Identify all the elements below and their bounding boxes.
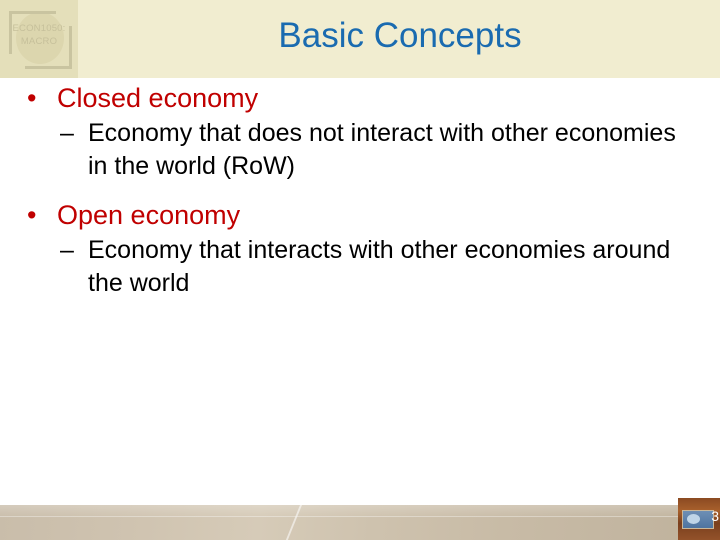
footer-seam-line	[286, 505, 302, 540]
slide-body: • Closed economy – Economy that does not…	[0, 80, 720, 500]
logo-text-line2: MACRO	[0, 35, 78, 48]
dash-icon: –	[60, 117, 74, 150]
sub-bullet-text: Economy that does not interact with othe…	[88, 117, 688, 183]
bullet-item-closed-economy: • Closed economy	[0, 80, 720, 117]
slide-number: 3	[677, 508, 720, 524]
bullet-dot-icon: •	[27, 197, 36, 234]
sub-bullet-item-closed-economy-definition: – Economy that does not interact with ot…	[0, 117, 720, 183]
dash-icon: –	[60, 234, 74, 267]
sub-bullet-item-open-economy-definition: – Economy that interacts with other econ…	[0, 234, 720, 300]
footer-photo-band	[0, 505, 720, 540]
sub-bullet-text: Economy that interacts with other econom…	[88, 234, 688, 300]
footer-highlight-line	[0, 516, 720, 517]
page-title: Basic Concepts	[88, 14, 712, 58]
bullet-label: Closed economy	[57, 83, 258, 113]
course-logo: ECON1050: MACRO	[0, 0, 78, 78]
logo-text-line1: ECON1050:	[0, 22, 78, 35]
bullet-item-open-economy: • Open economy	[0, 197, 720, 234]
bullet-dot-icon: •	[27, 80, 36, 117]
slide: ECON1050: MACRO Basic Concepts • Closed …	[0, 0, 720, 540]
bullet-label: Open economy	[57, 200, 240, 230]
spacer	[0, 183, 720, 197]
logo-text: ECON1050: MACRO	[0, 22, 78, 48]
